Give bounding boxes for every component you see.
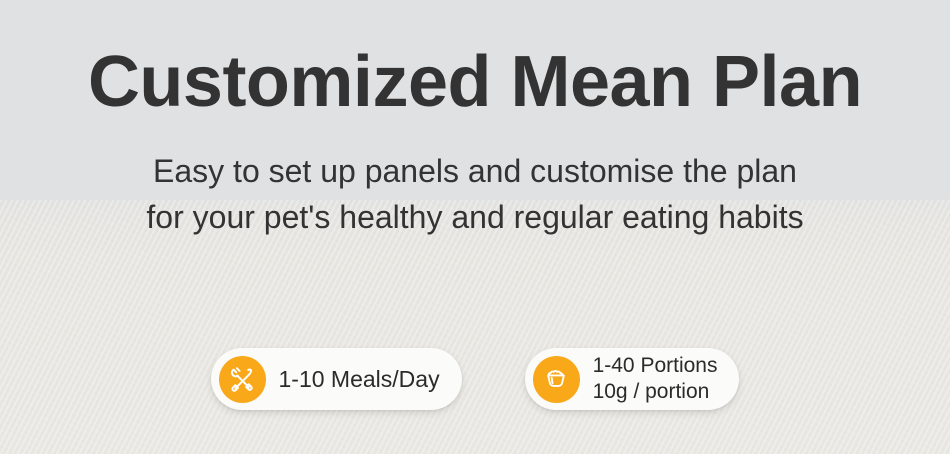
- feature-badge-meals-text: 1-10 Meals/Day: [279, 368, 440, 391]
- feature-badge-meals[interactable]: 1-10 Meals/Day: [211, 348, 462, 410]
- feature-badge-portions[interactable]: 1-40 Portions 10g / portion: [525, 348, 740, 410]
- subtitle-line-1: Easy to set up panels and customise the …: [0, 149, 950, 194]
- feature-badge-row: 1-10 Meals/Day 1-40 Portions: [0, 348, 950, 412]
- pet-food-bowl-icon: [533, 356, 580, 403]
- promo-banner: Customized Mean Plan Easy to set up pane…: [0, 0, 950, 454]
- banner-content: Customized Mean Plan Easy to set up pane…: [0, 0, 950, 240]
- page-subtitle: Easy to set up panels and customise the …: [0, 119, 950, 240]
- feature-badge-meals-label: 1-10 Meals/Day: [279, 368, 440, 391]
- feature-badge-portions-text: 1-40 Portions 10g / portion: [593, 353, 718, 405]
- page-title: Customized Mean Plan: [0, 0, 950, 119]
- feature-badge-portions-label-1: 1-40 Portions: [593, 353, 718, 379]
- feature-badge-portions-label-2: 10g / portion: [593, 379, 718, 405]
- subtitle-line-2: for your pet's healthy and regular eatin…: [0, 195, 950, 240]
- crossed-fork-knife-icon: [219, 356, 266, 403]
